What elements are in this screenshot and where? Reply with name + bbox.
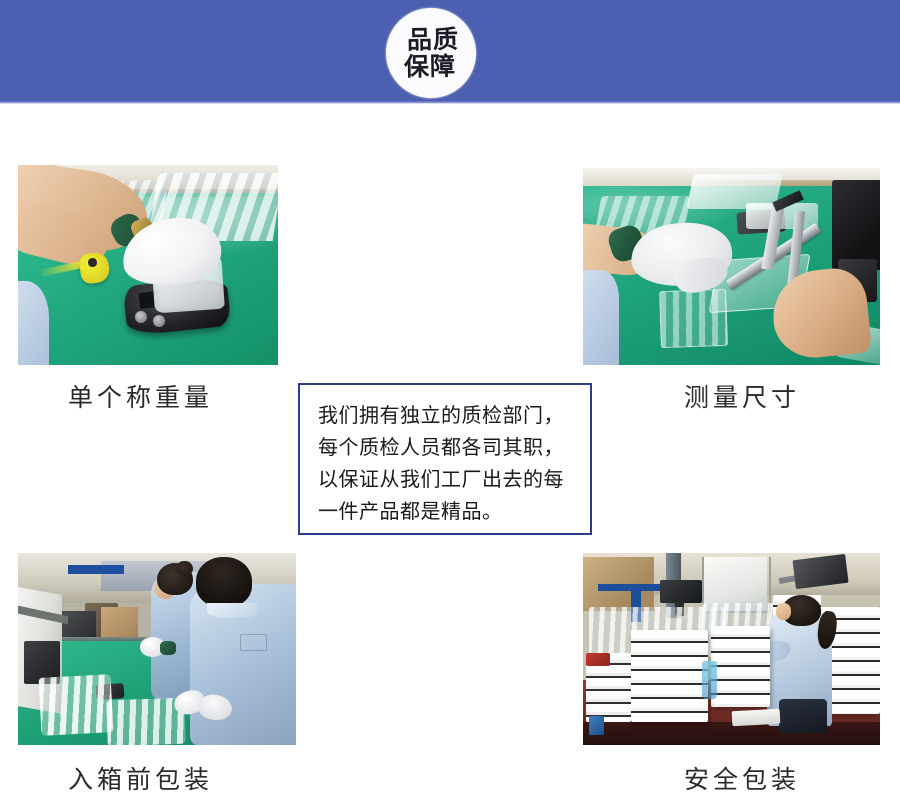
photo-safe-packing — [583, 553, 880, 745]
statement-line-3: 以保证从我们工厂出去的每 — [318, 463, 574, 495]
quality-statement-box: 我们拥有独立的质检部门， 每个质检人员都各司其职， 以保证从我们工厂出去的每 一… — [298, 383, 592, 535]
quality-badge: 品质 保障 — [386, 8, 476, 98]
photo-weighing-scene — [18, 165, 278, 365]
photo-weighing — [18, 165, 278, 365]
caption-measuring: 测量尺寸 — [684, 378, 800, 414]
photo-measuring — [583, 168, 880, 365]
photo-pre-box-packing — [18, 553, 296, 745]
quality-badge-line-2: 保障 — [404, 53, 456, 81]
photo-measuring-scene — [583, 168, 880, 365]
statement-line-4: 一件产品都是精品。 — [318, 495, 574, 527]
caption-weighing: 单个称重量 — [68, 378, 213, 414]
caption-safe-packing: 安全包装 — [684, 760, 800, 796]
photo-pre-box-packing-scene — [18, 553, 296, 745]
quality-badge-line-1: 品质 — [407, 26, 459, 54]
statement-line-1: 我们拥有独立的质检部门， — [318, 399, 574, 431]
photo-safe-packing-scene — [583, 553, 880, 745]
header-band-gradient-edge — [0, 101, 900, 104]
caption-pre-box-packing: 入箱前包装 — [68, 760, 213, 796]
statement-line-2: 每个质检人员都各司其职， — [318, 431, 574, 463]
